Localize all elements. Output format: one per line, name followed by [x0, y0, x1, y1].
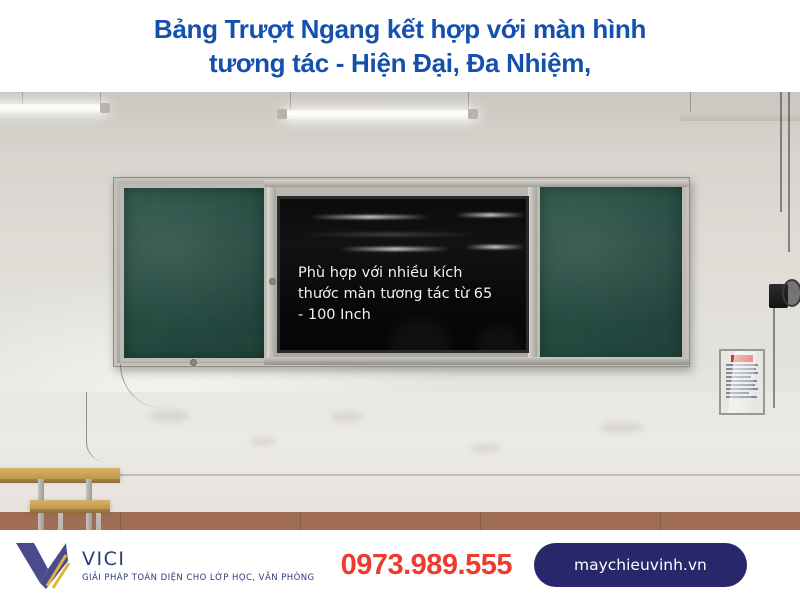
- screen-reflection: [465, 245, 525, 249]
- slider-post-right[interactable]: [528, 187, 537, 357]
- ceiling-light-cap: [468, 109, 478, 119]
- light-rod: [468, 92, 469, 110]
- screen-text-line-2: thước màn tương tác từ 65: [298, 284, 526, 305]
- blackboard-panel-right: [536, 182, 686, 364]
- sliding-blackboard-assembly: Phù hợp với nhiều kích thước màn tương t…: [113, 177, 690, 367]
- screen-shadow: [476, 326, 522, 353]
- wall-seam-line: [0, 474, 800, 476]
- light-rod: [290, 92, 291, 110]
- brand-name: VICI: [82, 548, 315, 570]
- slider-rail-top: [264, 180, 689, 187]
- light-rod: [22, 92, 23, 104]
- speaker-wire: [773, 308, 775, 408]
- chevron-logo-icon: [14, 539, 70, 591]
- slider-rail-bottom: [264, 357, 689, 365]
- ceiling-light-cap: [277, 109, 287, 119]
- screen-reflection: [340, 247, 450, 251]
- website-button[interactable]: maychieuvinh.vn: [534, 543, 747, 587]
- floor-tile-line: [120, 512, 121, 530]
- screen-reflection: [300, 233, 480, 236]
- floor-tile-line: [660, 512, 661, 530]
- interactive-display-screen[interactable]: Phù hợp với nhiều kích thước màn tương t…: [277, 196, 529, 353]
- wall-notice-poster: [719, 349, 765, 415]
- board-knob[interactable]: [269, 278, 276, 285]
- student-bench: [30, 500, 110, 509]
- student-desk-edge: [0, 479, 120, 483]
- logo-vici-chevron[interactable]: [14, 539, 70, 591]
- footer-bar: VICI GIẢI PHÁP TOÀN DIỆN CHO LỚP HỌC, VĂ…: [0, 530, 800, 600]
- ceiling-wire: [788, 92, 790, 252]
- wall-smudge: [250, 437, 276, 446]
- classroom-photo: Phù hợp với nhiều kích thước màn tương t…: [0, 92, 800, 530]
- page-title-line-1: Bảng Trượt Ngang kết hợp với màn hình: [154, 12, 646, 46]
- screen-reflection: [455, 213, 525, 217]
- wall-smudge: [150, 410, 190, 422]
- page-title-line-2: tương tác - Hiện Đại, Đa Nhiệm,: [209, 46, 591, 80]
- floor-tile-line: [300, 512, 301, 530]
- header-title-banner: Bảng Trượt Ngang kết hợp với màn hình tư…: [0, 0, 800, 92]
- light-rod: [690, 92, 691, 112]
- wall-smudge: [470, 444, 500, 452]
- ceiling-light-tube: [285, 110, 475, 119]
- screen-text-line-3: - 100 Inch: [298, 305, 526, 326]
- student-desk: [0, 468, 120, 479]
- brand-text-block: VICI GIẢI PHÁP TOÀN DIỆN CHO LỚP HỌC, VĂ…: [82, 548, 315, 583]
- ceiling-light-cap: [100, 103, 110, 113]
- wall-smudge: [600, 422, 644, 433]
- screen-reflection: [310, 215, 430, 219]
- brand-tagline: GIẢI PHÁP TOÀN DIỆN CHO LỚP HỌC, VĂN PHÒ…: [82, 573, 315, 583]
- wall-smudge: [330, 412, 364, 422]
- ceiling-wire: [780, 92, 782, 212]
- ceiling-light-tube: [0, 104, 105, 113]
- floor-tile-line: [480, 512, 481, 530]
- desk-crossbar: [58, 513, 63, 530]
- board-knob[interactable]: [190, 359, 197, 366]
- ceiling-light-tube-off: [680, 112, 800, 121]
- wall-speaker-cone-icon: [782, 279, 800, 307]
- desk-crossbar: [96, 513, 101, 530]
- screen-overlay-text: Phù hợp với nhiều kích thước màn tương t…: [298, 263, 526, 326]
- blackboard-panel-left: [120, 184, 268, 362]
- contact-phone-number[interactable]: 0973.989.555: [341, 549, 512, 582]
- board-power-cable: [86, 392, 126, 462]
- slider-post-left[interactable]: [267, 187, 276, 357]
- screen-text-line-1: Phù hợp với nhiều kích: [298, 263, 526, 284]
